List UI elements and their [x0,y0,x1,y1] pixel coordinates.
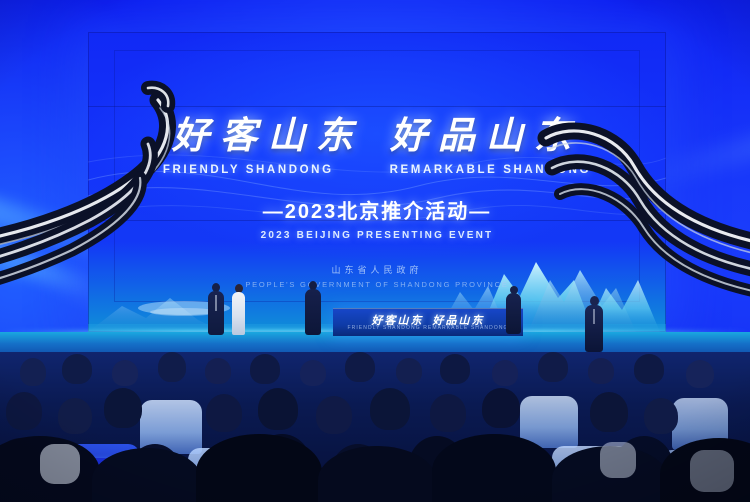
event-photo-scene: 好客山东好品山东 FRIENDLY SHANDONG REMARKABLE SH… [0,0,750,502]
photo-vignette [0,0,750,502]
